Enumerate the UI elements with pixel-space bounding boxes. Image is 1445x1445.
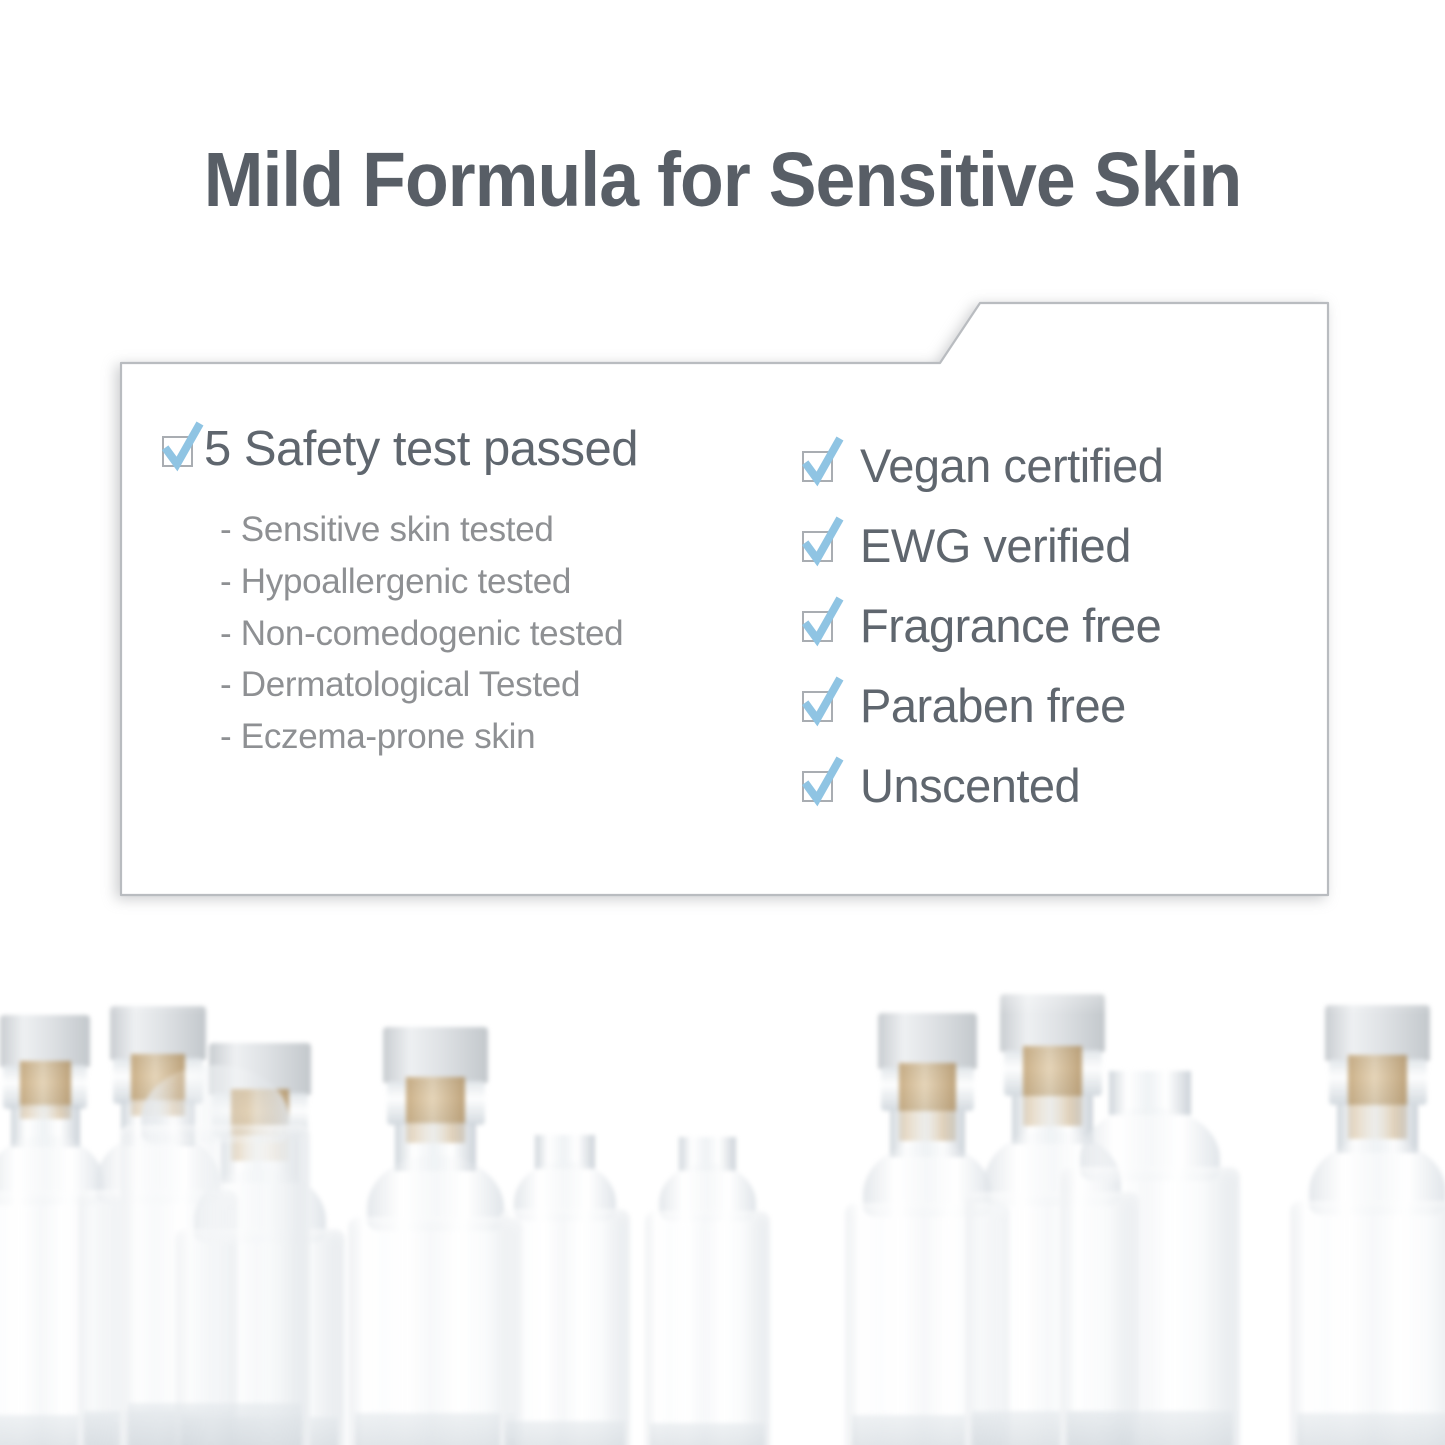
vial bbox=[120, 1055, 310, 1445]
right-column: Vegan certified EWG verified bbox=[720, 425, 1350, 915]
claim-label: Vegan certified bbox=[860, 442, 1163, 489]
checkbox-checked-icon bbox=[802, 770, 832, 800]
safety-heading-row: 5 Safety test passed bbox=[162, 425, 720, 474]
claim-row-fragrance-free: Fragrance free bbox=[802, 585, 1350, 665]
vial bbox=[1290, 985, 1445, 1445]
vial bbox=[1060, 1025, 1240, 1445]
safety-sub-list: - Sensitive skin tested - Hypoallergenic… bbox=[162, 504, 720, 763]
safety-heading-label: 5 Safety test passed bbox=[204, 425, 638, 474]
claims-card: 5 Safety test passed - Sensitive skin te… bbox=[100, 295, 1350, 915]
checkbox-checked-icon bbox=[802, 530, 832, 560]
claim-row-unscented: Unscented bbox=[802, 745, 1350, 825]
list-item: - Eczema-prone skin bbox=[220, 711, 720, 763]
checkbox-checked-icon bbox=[802, 610, 832, 640]
checkbox-checked-icon bbox=[802, 450, 832, 480]
list-item: - Sensitive skin tested bbox=[220, 504, 720, 556]
claim-label: Paraben free bbox=[860, 682, 1126, 729]
checkbox-checked-icon bbox=[802, 690, 832, 720]
vial bbox=[348, 1005, 523, 1445]
claim-label: EWG verified bbox=[860, 522, 1131, 569]
claim-row-paraben-free: Paraben free bbox=[802, 665, 1350, 745]
claim-row-ewg-verified: EWG verified bbox=[802, 505, 1350, 585]
list-item: - Hypoallergenic tested bbox=[220, 556, 720, 608]
vial bbox=[645, 1085, 770, 1445]
list-item: - Dermatological Tested bbox=[220, 659, 720, 711]
claim-row-vegan-certified: Vegan certified bbox=[802, 425, 1350, 505]
vial bbox=[500, 1075, 630, 1445]
claim-label: Fragrance free bbox=[860, 602, 1161, 649]
list-item: - Non-comedogenic tested bbox=[220, 608, 720, 660]
glass-vials-photo-content bbox=[0, 945, 1445, 1445]
glass-vials-photo bbox=[0, 945, 1445, 1445]
page-title: Mild Formula for Sensitive Skin bbox=[51, 140, 1395, 221]
claim-label: Unscented bbox=[860, 762, 1080, 809]
checkbox-checked-icon bbox=[162, 435, 192, 465]
left-column: 5 Safety test passed - Sensitive skin te… bbox=[100, 425, 720, 915]
